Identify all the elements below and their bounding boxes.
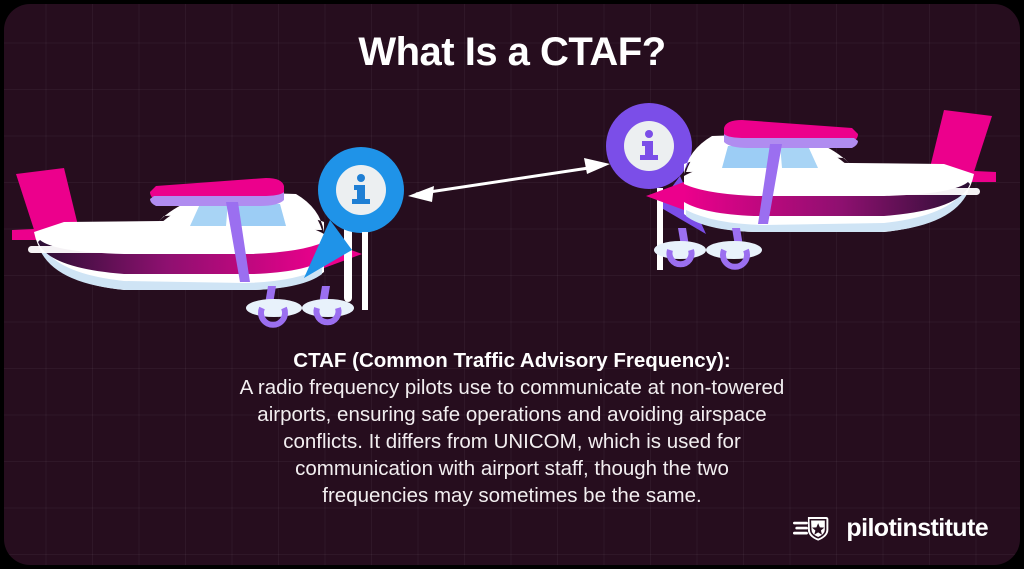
infographic-card: What Is a CTAF? xyxy=(4,4,1020,565)
arrow-head-left xyxy=(408,186,434,202)
diagram-svg xyxy=(4,82,1020,342)
right-aircraft xyxy=(646,110,996,267)
winged-shield-star-icon xyxy=(793,513,837,543)
description-lead: CTAF (Common Traffic Advisory Frequency)… xyxy=(162,347,862,374)
description-line-1: A radio frequency pilots use to communic… xyxy=(240,376,785,399)
brand-logo: pilotinstitute xyxy=(793,513,988,543)
communication-arrow xyxy=(408,158,610,202)
description-text: CTAF (Common Traffic Advisory Frequency)… xyxy=(162,347,862,509)
page-title: What Is a CTAF? xyxy=(4,30,1020,75)
description-line-4: communication with airport staff, though… xyxy=(295,457,729,480)
description-line-5: frequencies may sometimes be the same. xyxy=(322,484,701,507)
description-line-3: conflicts. It differs from UNICOM, which… xyxy=(283,430,741,453)
logo-wordmark: pilotinstitute xyxy=(846,516,988,541)
arrow-head-right xyxy=(584,158,610,174)
description-line-2: airports, ensuring safe operations and a… xyxy=(257,403,766,426)
landing-gear xyxy=(246,286,354,325)
diagram-stage xyxy=(4,82,1020,342)
left-aircraft xyxy=(12,168,362,325)
bubble-stem xyxy=(362,232,368,310)
